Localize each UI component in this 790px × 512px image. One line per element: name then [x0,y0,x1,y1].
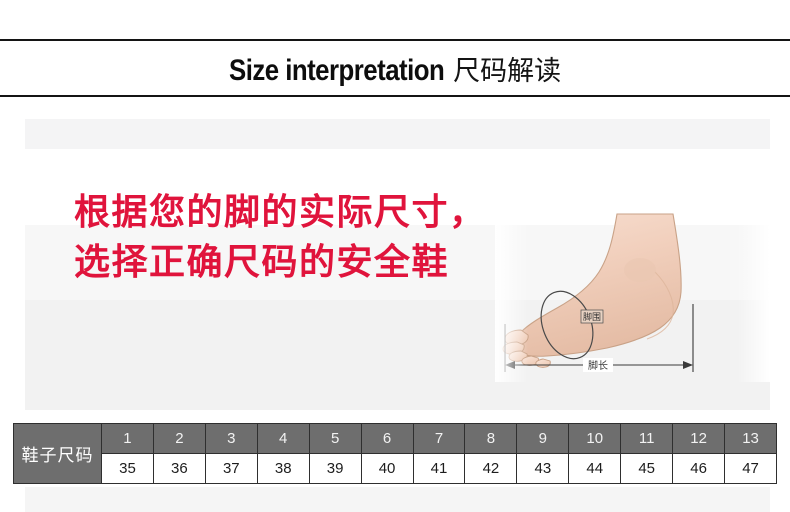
instruction-headline-line-2: 选择正确尺码的安全鞋 [74,238,487,288]
instruction-headline: 根据您的脚的实际尺寸， 选择正确尺码的安全鞋 [74,188,487,288]
image-edge-fade [495,212,770,382]
eu-size-cell[interactable]: 36 [153,454,205,484]
us-size-cell[interactable]: 5 [309,424,361,454]
us-size-cell[interactable]: 3 [205,424,257,454]
us-size-cell[interactable]: 10 [569,424,621,454]
page-title-english: Size interpretation [229,54,444,88]
shoe-size-table: 鞋子尺码 1 2 3 4 5 6 7 8 9 10 11 12 13 35 36… [13,423,777,484]
eu-size-cell[interactable]: 43 [517,454,569,484]
us-size-cell[interactable]: 12 [673,424,725,454]
eu-size-cell[interactable]: 39 [309,454,361,484]
foot-measurement-illustration: 脚围 脚长 [495,212,770,382]
eu-size-cell[interactable]: 45 [621,454,673,484]
footer-background-band [25,487,770,512]
eu-size-cell[interactable]: 46 [673,454,725,484]
header-divider-band [25,119,770,149]
header-rule-bottom [0,95,790,97]
table-row-label: 鞋子尺码 [14,424,102,484]
us-size-cell[interactable]: 2 [153,424,205,454]
main-content: 根据您的脚的实际尺寸， 选择正确尺码的安全鞋 [0,150,790,412]
size-interpretation-page: Size interpretation 尺码解读 根据您的脚的实际尺寸， 选择正… [0,0,790,512]
us-size-cell[interactable]: 4 [257,424,309,454]
eu-size-cell[interactable]: 47 [725,454,777,484]
us-size-cell[interactable]: 9 [517,424,569,454]
us-size-cell[interactable]: 11 [621,424,673,454]
eu-size-cell[interactable]: 41 [413,454,465,484]
page-header: Size interpretation 尺码解读 [0,41,790,95]
us-size-cell[interactable]: 8 [465,424,517,454]
page-title: Size interpretation 尺码解读 [229,49,561,88]
us-size-cell[interactable]: 7 [413,424,465,454]
us-size-cell[interactable]: 6 [361,424,413,454]
eu-size-cell[interactable]: 40 [361,454,413,484]
us-size-cell[interactable]: 13 [725,424,777,454]
page-title-chinese: 尺码解读 [453,49,561,88]
eu-size-cell[interactable]: 35 [102,454,154,484]
table-row-eu-sizes: 35 36 37 38 39 40 41 42 43 44 45 46 47 [14,454,777,484]
table-row-us-sizes: 鞋子尺码 1 2 3 4 5 6 7 8 9 10 11 12 13 [14,424,777,454]
instruction-headline-line-1: 根据您的脚的实际尺寸， [74,188,487,238]
eu-size-cell[interactable]: 37 [205,454,257,484]
us-size-cell[interactable]: 1 [102,424,154,454]
eu-size-cell[interactable]: 44 [569,454,621,484]
eu-size-cell[interactable]: 38 [257,454,309,484]
eu-size-cell[interactable]: 42 [465,454,517,484]
